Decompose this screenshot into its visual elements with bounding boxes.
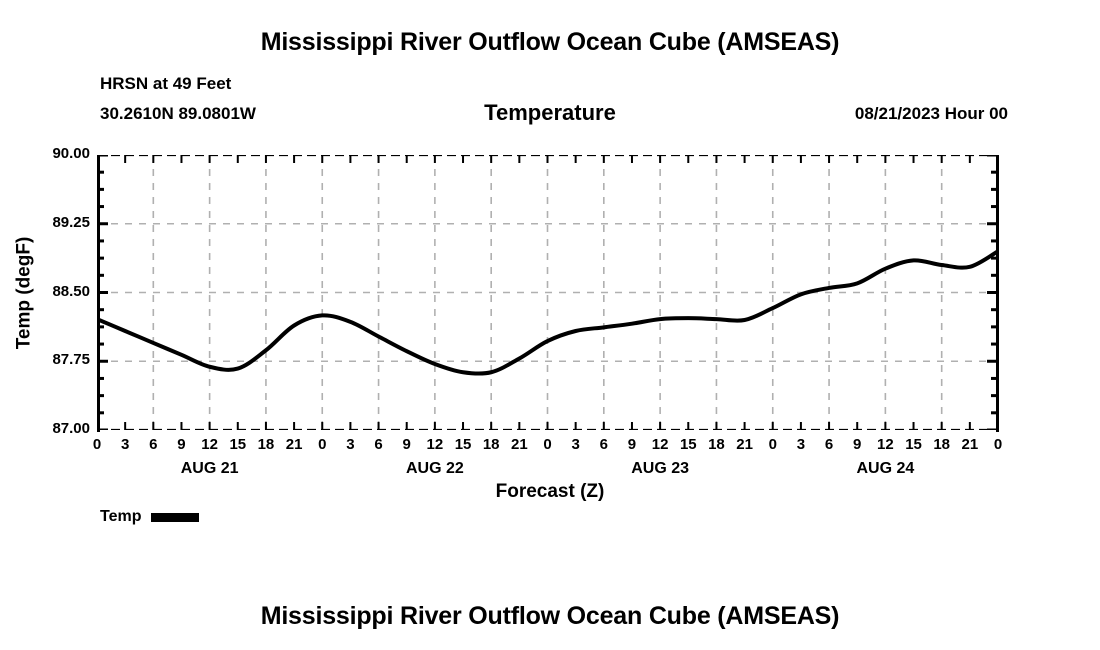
x-tick-label: 9 bbox=[177, 436, 185, 453]
x-tick-label: 3 bbox=[571, 436, 579, 453]
x-tick-label: 3 bbox=[121, 436, 129, 453]
x-tick-label: 15 bbox=[905, 436, 922, 453]
x-tick-label: 0 bbox=[994, 436, 1002, 453]
x-tick-label: 15 bbox=[455, 436, 472, 453]
x-axis-title: Forecast (Z) bbox=[0, 481, 1100, 503]
x-tick-label: 3 bbox=[346, 436, 354, 453]
page-title: Mississippi River Outflow Ocean Cube (AM… bbox=[0, 28, 1100, 57]
x-tick-label: 12 bbox=[427, 436, 444, 453]
forecast-datestamp: 08/21/2023 Hour 00 bbox=[855, 104, 1008, 124]
x-axis-day-label: AUG 22 bbox=[406, 460, 464, 478]
legend: Temp bbox=[100, 508, 199, 526]
y-axis-line bbox=[97, 155, 100, 432]
x-tick-label: 21 bbox=[286, 436, 303, 453]
x-tick-label: 6 bbox=[825, 436, 833, 453]
legend-line-swatch bbox=[151, 513, 199, 522]
y-tick-label: 87.00 bbox=[0, 420, 90, 437]
right-axis-line bbox=[996, 155, 999, 432]
x-tick-label: 6 bbox=[149, 436, 157, 453]
x-tick-label: 0 bbox=[543, 436, 551, 453]
footer-title: Mississippi River Outflow Ocean Cube (AM… bbox=[0, 602, 1100, 631]
x-tick-label: 3 bbox=[797, 436, 805, 453]
x-tick-label: 21 bbox=[511, 436, 528, 453]
x-tick-label: 12 bbox=[201, 436, 218, 453]
x-tick-label: 9 bbox=[853, 436, 861, 453]
x-tick-label: 18 bbox=[258, 436, 275, 453]
y-tick-label: 87.75 bbox=[0, 351, 90, 368]
chart-page: Mississippi River Outflow Ocean Cube (AM… bbox=[0, 0, 1100, 650]
x-tick-label: 0 bbox=[769, 436, 777, 453]
chart-canvas bbox=[97, 155, 998, 430]
x-tick-label: 21 bbox=[736, 436, 753, 453]
x-tick-label: 18 bbox=[933, 436, 950, 453]
x-tick-label: 6 bbox=[600, 436, 608, 453]
x-tick-label: 18 bbox=[483, 436, 500, 453]
legend-item-label: Temp bbox=[100, 508, 141, 526]
x-tick-label: 15 bbox=[229, 436, 246, 453]
x-axis-day-label: AUG 24 bbox=[856, 460, 914, 478]
x-tick-label: 6 bbox=[374, 436, 382, 453]
x-tick-label: 12 bbox=[877, 436, 894, 453]
x-tick-label: 21 bbox=[962, 436, 979, 453]
y-tick-label: 90.00 bbox=[0, 145, 90, 162]
x-tick-label: 9 bbox=[403, 436, 411, 453]
station-depth-label: HRSN at 49 Feet bbox=[100, 74, 231, 94]
x-axis-day-label: AUG 21 bbox=[181, 460, 239, 478]
x-tick-label: 9 bbox=[628, 436, 636, 453]
x-tick-label: 0 bbox=[318, 436, 326, 453]
x-tick-label: 18 bbox=[708, 436, 725, 453]
x-tick-label: 15 bbox=[680, 436, 697, 453]
x-tick-label: 0 bbox=[93, 436, 101, 453]
plot-area bbox=[97, 155, 998, 430]
x-tick-label: 12 bbox=[652, 436, 669, 453]
y-tick-label: 89.25 bbox=[0, 214, 90, 231]
y-axis-tick-labels: 90.0089.2588.5087.7587.00 bbox=[0, 0, 90, 650]
y-tick-label: 88.50 bbox=[0, 283, 90, 300]
x-axis-day-label: AUG 23 bbox=[631, 460, 689, 478]
